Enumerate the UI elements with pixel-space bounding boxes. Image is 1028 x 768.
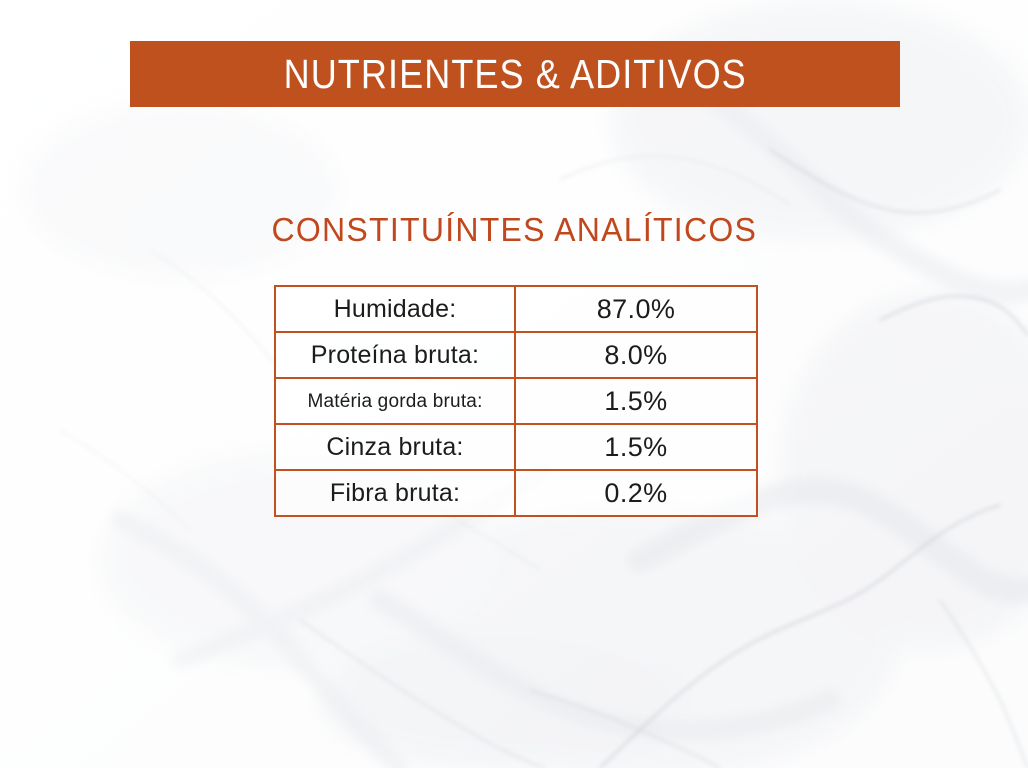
banner-title: NUTRIENTES & ADITIVOS: [283, 54, 746, 95]
table-row: Matéria gorda bruta: 1.5%: [275, 378, 757, 424]
table-row: Humidade: 87.0%: [275, 286, 757, 332]
row-value: 8.0%: [515, 332, 757, 378]
table-row: Fibra bruta: 0.2%: [275, 470, 757, 516]
table-row: Cinza bruta: 1.5%: [275, 424, 757, 470]
row-label: Matéria gorda bruta:: [275, 378, 515, 424]
analytical-constituents-heading: CONSTITUÍNTES ANALÍTICOS: [0, 212, 1028, 248]
section-banner: NUTRIENTES & ADITIVOS: [130, 41, 900, 107]
analytical-constituents-heading-text: CONSTITUÍNTES ANALÍTICOS: [271, 212, 757, 248]
row-label: Cinza bruta:: [275, 424, 515, 470]
row-label: Humidade:: [275, 286, 515, 332]
table-body: Humidade: 87.0% Proteína bruta: 8.0% Mat…: [275, 286, 757, 516]
row-value: 1.5%: [515, 378, 757, 424]
row-value: 1.5%: [515, 424, 757, 470]
row-value: 87.0%: [515, 286, 757, 332]
analytical-constituents-table: Humidade: 87.0% Proteína bruta: 8.0% Mat…: [274, 285, 758, 517]
row-label: Proteína bruta:: [275, 332, 515, 378]
row-value: 0.2%: [515, 470, 757, 516]
table-row: Proteína bruta: 8.0%: [275, 332, 757, 378]
row-label: Fibra bruta:: [275, 470, 515, 516]
product-info-panel: NUTRIENTES & ADITIVOS CONSTITUÍNTES ANAL…: [0, 0, 1028, 768]
